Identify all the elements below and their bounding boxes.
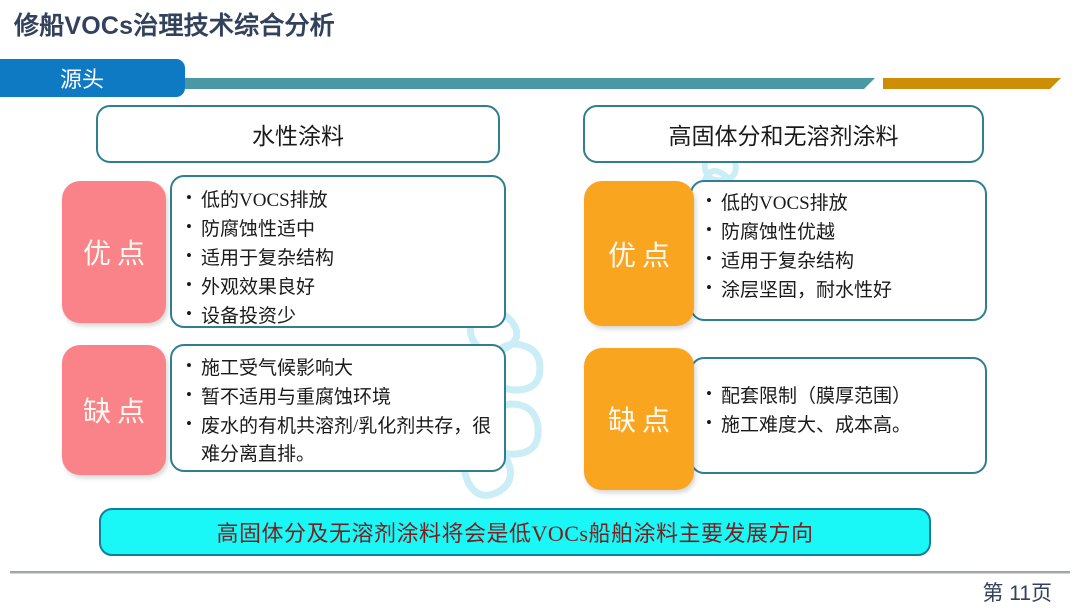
- slide-canvas: 修船VOCs治理技术综合分析 源头 水性涂料 高固体分和: [0, 0, 1080, 608]
- section-tab-label: 源头: [60, 62, 104, 94]
- list-item: 低的VOCS排放: [706, 190, 977, 218]
- list-item: 配套限制（膜厚范围）: [706, 383, 977, 411]
- right-cons-label: 缺点: [602, 399, 676, 439]
- column-header-left-label: 水性涂料: [252, 117, 344, 151]
- page-number: 第 11页: [982, 577, 1052, 607]
- right-cons-label-chip: 缺点: [584, 348, 694, 490]
- section-tab-source[interactable]: 源头: [0, 59, 185, 97]
- left-cons-panel: 施工受气候影响大 暂不适用与重腐蚀环境 废水的有机共溶剂/乳化剂共存，很难分离直…: [170, 344, 506, 472]
- right-pros-panel: 低的VOCS排放 防腐蚀性优越 适用于复杂结构 涂层坚固，耐水性好: [690, 180, 987, 321]
- left-pros-panel: 低的VOCS排放 防腐蚀性适中 适用于复杂结构 外观效果良好 设备投资少: [170, 175, 506, 328]
- list-item: 适用于复杂结构: [186, 245, 496, 273]
- list-item: 防腐蚀性适中: [186, 216, 496, 244]
- left-pros-list: 低的VOCS排放 防腐蚀性适中 适用于复杂结构 外观效果良好 设备投资少: [172, 177, 504, 331]
- list-item: 施工难度大、成本高。: [706, 412, 977, 440]
- right-cons-panel: 配套限制（膜厚范围） 施工难度大、成本高。: [690, 357, 987, 474]
- left-cons-list: 施工受气候影响大 暂不适用与重腐蚀环境 废水的有机共溶剂/乳化剂共存，很难分离直…: [172, 346, 504, 469]
- list-item: 废水的有机共溶剂/乳化剂共存，很难分离直排。: [186, 413, 496, 469]
- list-item: 低的VOCS排放: [186, 187, 496, 215]
- left-pros-label: 优点: [77, 232, 151, 272]
- list-item: 适用于复杂结构: [706, 248, 977, 276]
- list-item: 设备投资少: [186, 303, 496, 331]
- right-cons-list: 配套限制（膜厚范围） 施工难度大、成本高。: [692, 359, 985, 440]
- column-header-right-label: 高固体分和无溶剂涂料: [669, 117, 899, 151]
- page-title: 修船VOCs治理技术综合分析: [14, 6, 335, 42]
- left-cons-label-chip: 缺点: [62, 345, 166, 475]
- footer-divider: [10, 571, 1070, 574]
- header-bar-gold: [883, 78, 1061, 89]
- header-bar-teal: [185, 78, 875, 89]
- list-item: 施工受气候影响大: [186, 355, 496, 383]
- right-pros-list: 低的VOCS排放 防腐蚀性优越 适用于复杂结构 涂层坚固，耐水性好: [692, 182, 985, 305]
- conclusion-banner: 高固体分及无溶剂涂料将会是低VOCs船舶涂料主要发展方向: [99, 508, 931, 556]
- list-item: 暂不适用与重腐蚀环境: [186, 384, 496, 412]
- column-header-highsolid: 高固体分和无溶剂涂料: [583, 105, 984, 163]
- column-header-waterborne: 水性涂料: [96, 105, 500, 163]
- conclusion-text: 高固体分及无溶剂涂料将会是低VOCs船舶涂料主要发展方向: [216, 516, 813, 548]
- list-item: 防腐蚀性优越: [706, 219, 977, 247]
- left-pros-label-chip: 优点: [62, 181, 166, 323]
- left-cons-label: 缺点: [77, 390, 151, 430]
- list-item: 外观效果良好: [186, 274, 496, 302]
- right-pros-label-chip: 优点: [584, 181, 694, 326]
- list-item: 涂层坚固，耐水性好: [706, 277, 977, 305]
- right-pros-label: 优点: [602, 234, 676, 274]
